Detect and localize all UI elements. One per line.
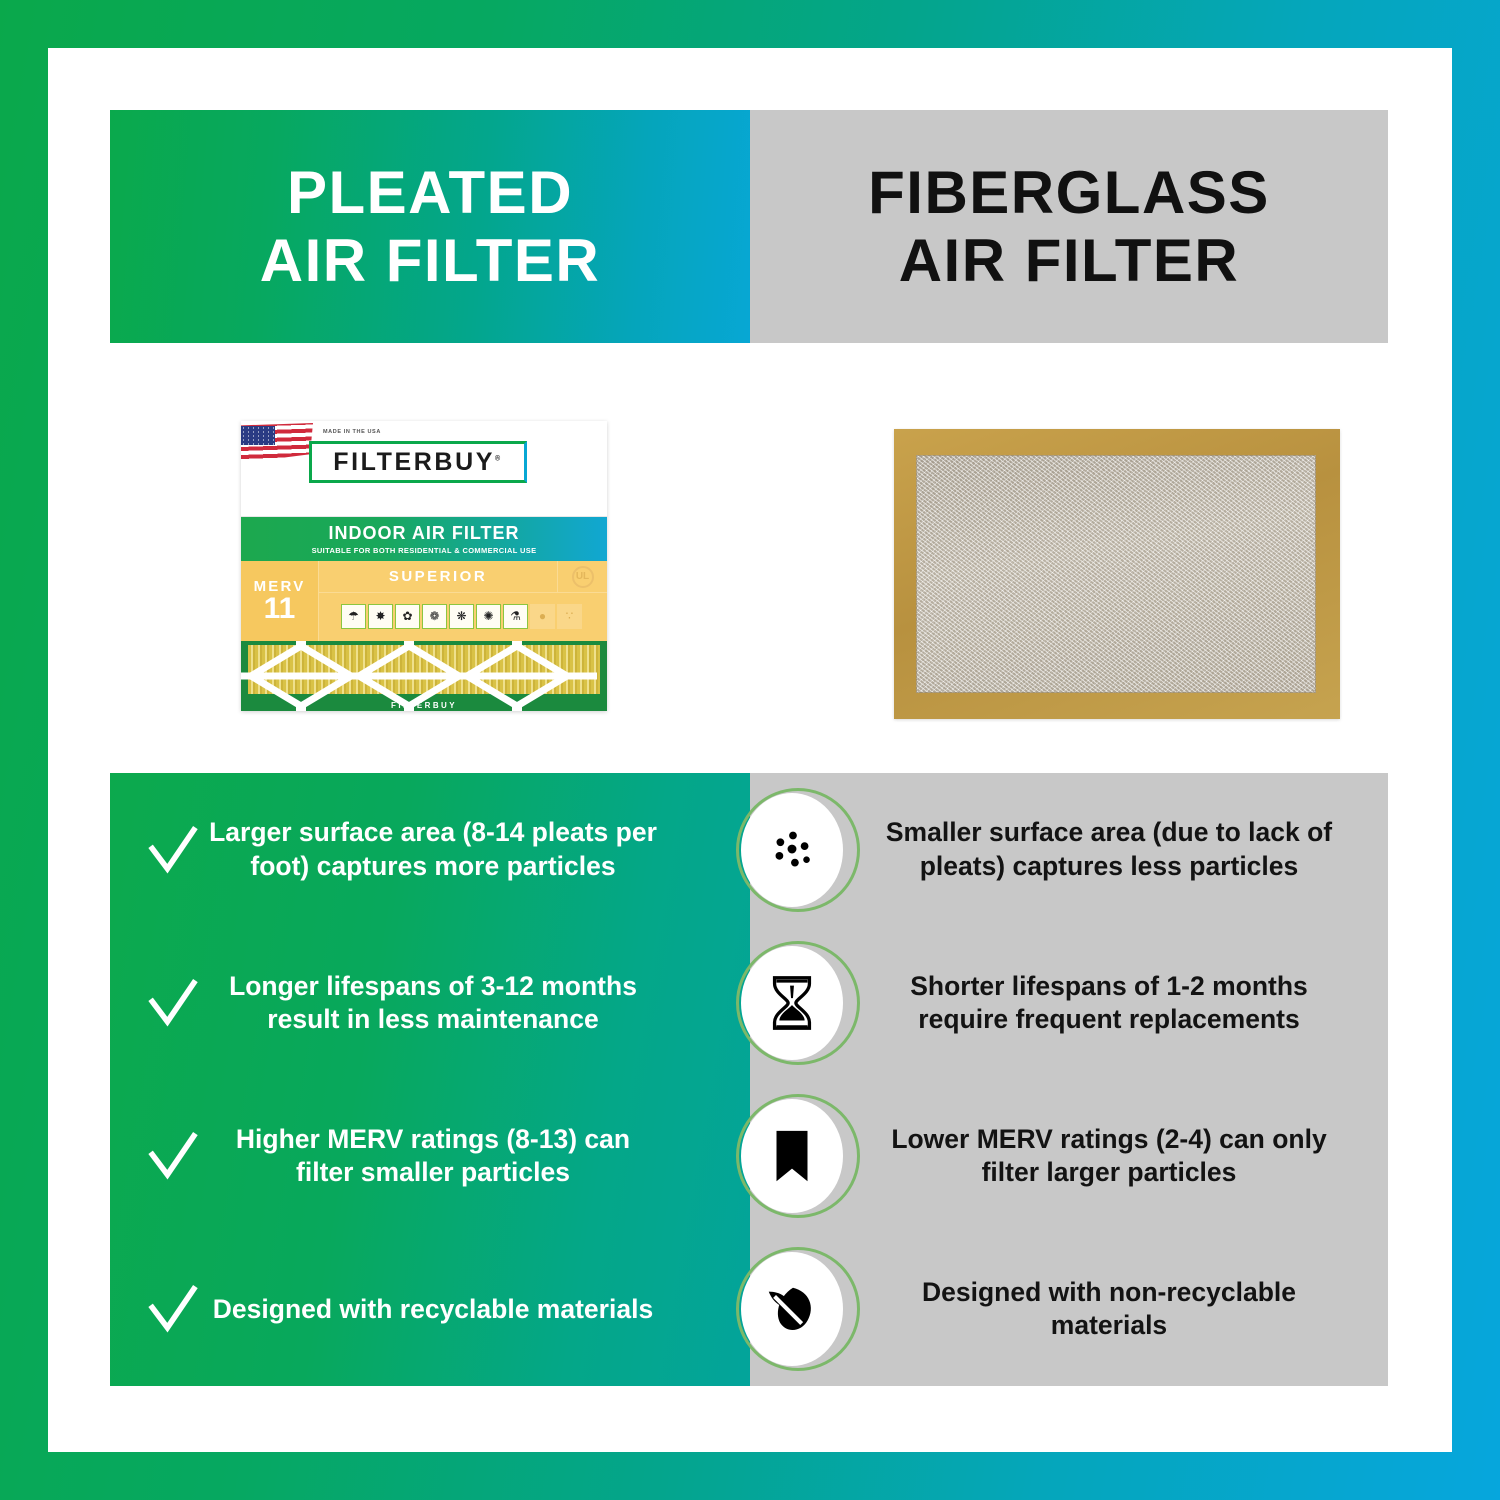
checkmark-icon xyxy=(145,975,201,1031)
pet-dander-icon: ✺ xyxy=(476,604,501,629)
bacteria-icon: ❋ xyxy=(449,604,474,629)
pollen-icon: ✿ xyxy=(395,604,420,629)
odor-icon: ∵ xyxy=(557,604,582,629)
fiberglass-product-cell xyxy=(749,343,1388,773)
insect-icon: ✸ xyxy=(368,604,393,629)
fiberglass-drawback-row: Smaller surface area (due to lack of ple… xyxy=(750,773,1388,926)
grade-label: SUPERIOR xyxy=(319,568,557,585)
pleated-media-window: FILTERBUY xyxy=(241,641,607,711)
fiberglass-drawbacks-panel: Smaller surface area (due to lack of ple… xyxy=(750,773,1388,1386)
headers-band: PLEATED AIR FILTER FIBERGLASS AIR FILTER xyxy=(110,110,1388,343)
pleated-product-cell: MADE IN THE USA FILTERBUY® INDOOR AIR FI… xyxy=(110,343,749,773)
fiberglass-drawback-text: Lower MERV ratings (2-4) can only filter… xyxy=(866,1123,1352,1190)
checkmark xyxy=(140,822,206,878)
checkmark-icon xyxy=(145,1128,201,1184)
fiberglass-drawback-row: Shorter lifespans of 1-2 months require … xyxy=(750,926,1388,1079)
checkmark-icon xyxy=(145,1281,201,1337)
pleated-benefit-row: Designed with recyclable materials xyxy=(110,1233,750,1386)
mold-spores-icon: ❁ xyxy=(422,604,447,629)
smoke-icon: ⚗ xyxy=(503,604,528,629)
filterbuy-logo: FILTERBUY® xyxy=(309,441,527,483)
ul-certification-text: UL xyxy=(572,566,594,588)
fiberglass-drawback-text: Smaller surface area (due to lack of ple… xyxy=(866,816,1352,883)
pleated-filter-package: MADE IN THE USA FILTERBUY® INDOOR AIR FI… xyxy=(241,421,607,711)
filtration-icon-strip: ☂✸✿❁❋✺⚗●∵ xyxy=(319,593,607,641)
made-in-usa-label: MADE IN THE USA xyxy=(323,429,393,437)
header-fiberglass: FIBERGLASS AIR FILTER xyxy=(750,110,1388,343)
fiberglass-mesh-media xyxy=(916,455,1316,693)
pleated-benefit-row: Larger surface area (8-14 pleats per foo… xyxy=(110,773,750,926)
package-product-subtitle: SUITABLE FOR BOTH RESIDENTIAL & COMMERCI… xyxy=(312,546,537,555)
infographic-canvas: PLEATED AIR FILTER FIBERGLASS AIR FILTER… xyxy=(48,48,1452,1452)
us-flag-icon xyxy=(241,423,313,463)
header-pleated: PLEATED AIR FILTER xyxy=(110,110,750,343)
dust-icon: ☂ xyxy=(341,604,366,629)
pleated-benefits-list: Larger surface area (8-14 pleats per foo… xyxy=(110,773,750,1386)
grade-row: SUPERIOR UL xyxy=(319,561,607,593)
package-merv-section: MERV 11 SUPERIOR UL ☂✸✿❁❋✺⚗●∵ xyxy=(241,561,607,641)
header-fiberglass-title: FIBERGLASS AIR FILTER xyxy=(868,159,1270,293)
pleated-benefit-row: Longer lifespans of 3-12 months result i… xyxy=(110,926,750,1079)
package-product-title: INDOOR AIR FILTER xyxy=(329,523,520,544)
fiberglass-filter-image xyxy=(894,429,1340,719)
pleated-benefit-text: Designed with recyclable materials xyxy=(206,1293,660,1326)
fiberglass-drawback-row: Lower MERV ratings (2-4) can only filter… xyxy=(750,1080,1388,1233)
checkmark xyxy=(140,975,206,1031)
package-footer-brand: FILTERBUY xyxy=(241,701,607,710)
fiberglass-drawback-text: Shorter lifespans of 1-2 months require … xyxy=(866,970,1352,1037)
pleated-benefits-panel: Larger surface area (8-14 pleats per foo… xyxy=(110,773,750,1386)
package-product-band: INDOOR AIR FILTER SUITABLE FOR BOTH RESI… xyxy=(241,517,607,561)
fiberglass-drawbacks-list: Smaller surface area (due to lack of ple… xyxy=(750,773,1388,1386)
merv-badge: MERV 11 xyxy=(241,561,319,641)
product-images-band: MADE IN THE USA FILTERBUY® INDOOR AIR FI… xyxy=(110,343,1388,773)
fiberglass-drawback-row: Designed with non-recyclable materials xyxy=(750,1233,1388,1386)
pleated-benefit-text: Higher MERV ratings (8-13) can filter sm… xyxy=(206,1123,660,1190)
pleated-benefit-text: Longer lifespans of 3-12 months result i… xyxy=(206,970,660,1037)
pleated-benefit-row: Higher MERV ratings (8-13) can filter sm… xyxy=(110,1080,750,1233)
comparison-band: Larger surface area (8-14 pleats per foo… xyxy=(110,773,1388,1386)
fiberglass-drawback-text: Designed with non-recyclable materials xyxy=(866,1276,1352,1343)
merv-value: 11 xyxy=(264,595,296,624)
checkmark-icon xyxy=(145,822,201,878)
package-header: MADE IN THE USA FILTERBUY® xyxy=(241,421,607,517)
ul-certification-icon: UL xyxy=(557,561,607,592)
header-pleated-title: PLEATED AIR FILTER xyxy=(260,159,601,293)
package-grade-section: SUPERIOR UL ☂✸✿❁❋✺⚗●∵ xyxy=(319,561,607,641)
pleated-benefit-text: Larger surface area (8-14 pleats per foo… xyxy=(206,816,660,883)
checkmark xyxy=(140,1128,206,1184)
virus-icon: ● xyxy=(530,604,555,629)
filterbuy-logo-text: FILTERBUY® xyxy=(333,448,503,477)
checkmark xyxy=(140,1281,206,1337)
